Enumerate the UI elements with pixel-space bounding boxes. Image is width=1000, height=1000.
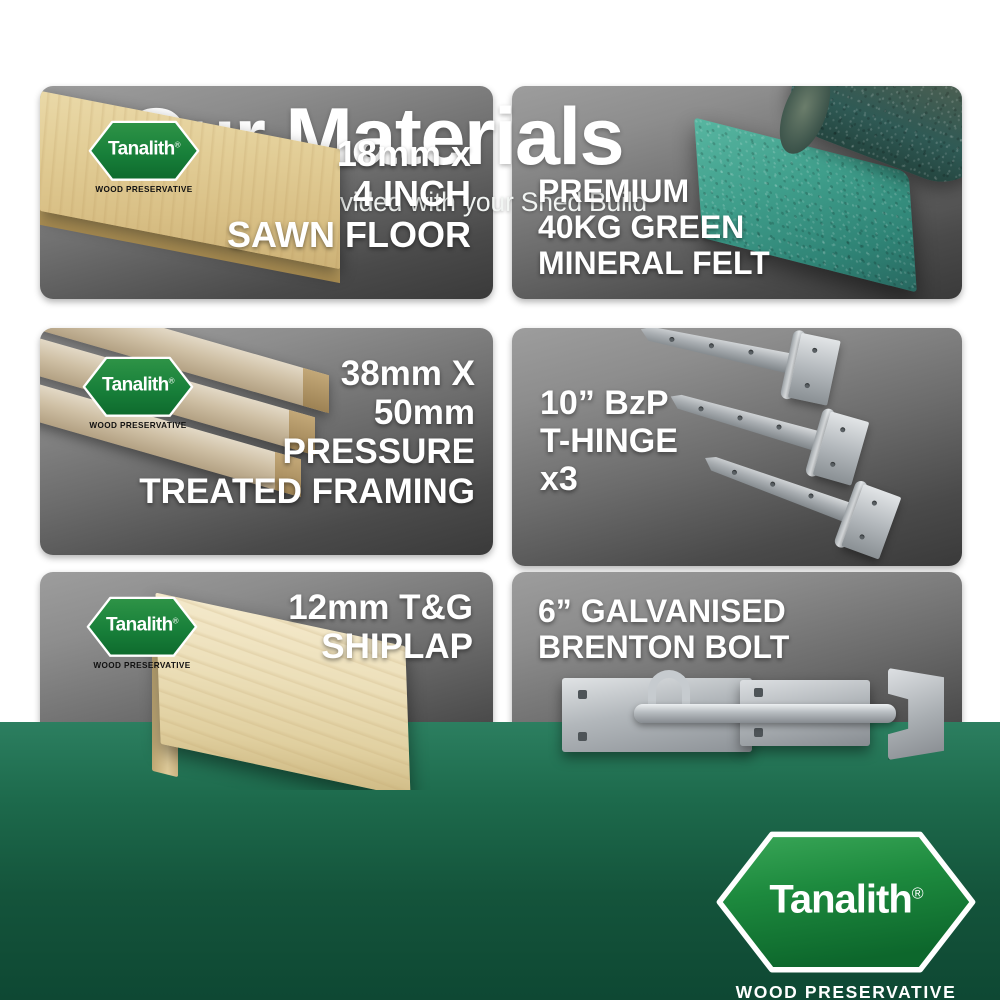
tanalith-logo: Tanalith® WOOD PRESERVATIVE	[88, 120, 200, 194]
tanalith-logo: Tanalith® WOOD PRESERVATIVE	[86, 596, 198, 670]
panel-line: PREMIUM	[538, 174, 770, 210]
panel-line: 12mm T&G	[288, 588, 473, 627]
tanalith-hexagon-icon	[715, 830, 977, 974]
tanalith-tagline: WOOD PRESERVATIVE	[715, 982, 977, 1000]
tanalith-brand-logo: Tanalith® WOOD PRESERVATIVE	[715, 830, 977, 1000]
panel-line: SHIPLAP	[288, 627, 473, 666]
tanalith-hexagon-icon	[86, 596, 198, 658]
panel-mineral-felt-text: PREMIUM 40KG GREEN MINERAL FELT	[538, 174, 770, 281]
panel-line: 10” BzP	[540, 384, 678, 422]
panel-line: 50mm	[139, 393, 475, 432]
panel-framing-text: 38mm X 50mm PRESSURE TREATED FRAMING	[139, 354, 475, 511]
panel-line: BRENTON BOLT	[538, 630, 789, 666]
galvanised-t-hinges-image	[642, 328, 962, 566]
panel-line: MINERAL FELT	[538, 246, 770, 282]
panel-line: T-HINGE	[540, 422, 678, 460]
panel-line: 6” GALVANISED	[538, 594, 789, 630]
panel-line: 38mm X	[139, 354, 475, 393]
tanalith-hexagon-icon	[88, 120, 200, 182]
panel-line: 40KG GREEN	[538, 210, 770, 246]
panel-line: PRESSURE	[139, 432, 475, 471]
panel-pressure-treated-framing[interactable]: Tanalith® WOOD PRESERVATIVE 38mm X 50mm …	[40, 328, 493, 555]
panel-line: 4 INCH	[227, 174, 471, 214]
panel-brenton-bolt[interactable]: 6” GALVANISED BRENTON BOLT	[512, 572, 962, 790]
panel-line: TREATED FRAMING	[139, 472, 475, 511]
materials-poster: Tanalith® WOOD PRESERVATIVE 18mm x 4 INC…	[0, 0, 1000, 1000]
panel-brenton-bolt-text: 6” GALVANISED BRENTON BOLT	[538, 594, 789, 666]
tanalith-tagline: WOOD PRESERVATIVE	[86, 661, 198, 670]
panel-line: 18mm x	[227, 134, 471, 174]
galvanised-brenton-bolt-image	[562, 664, 952, 784]
panel-line: SAWN FLOOR	[227, 215, 471, 255]
panel-sawn-floor-text: 18mm x 4 INCH SAWN FLOOR	[227, 134, 471, 255]
panel-line: x3	[540, 460, 678, 498]
panel-t-hinge[interactable]: 10” BzP T-HINGE x3	[512, 328, 962, 566]
panel-t-hinge-text: 10” BzP T-HINGE x3	[540, 384, 678, 498]
panel-shiplap-text: 12mm T&G SHIPLAP	[288, 588, 473, 666]
tanalith-tagline: WOOD PRESERVATIVE	[88, 185, 200, 194]
